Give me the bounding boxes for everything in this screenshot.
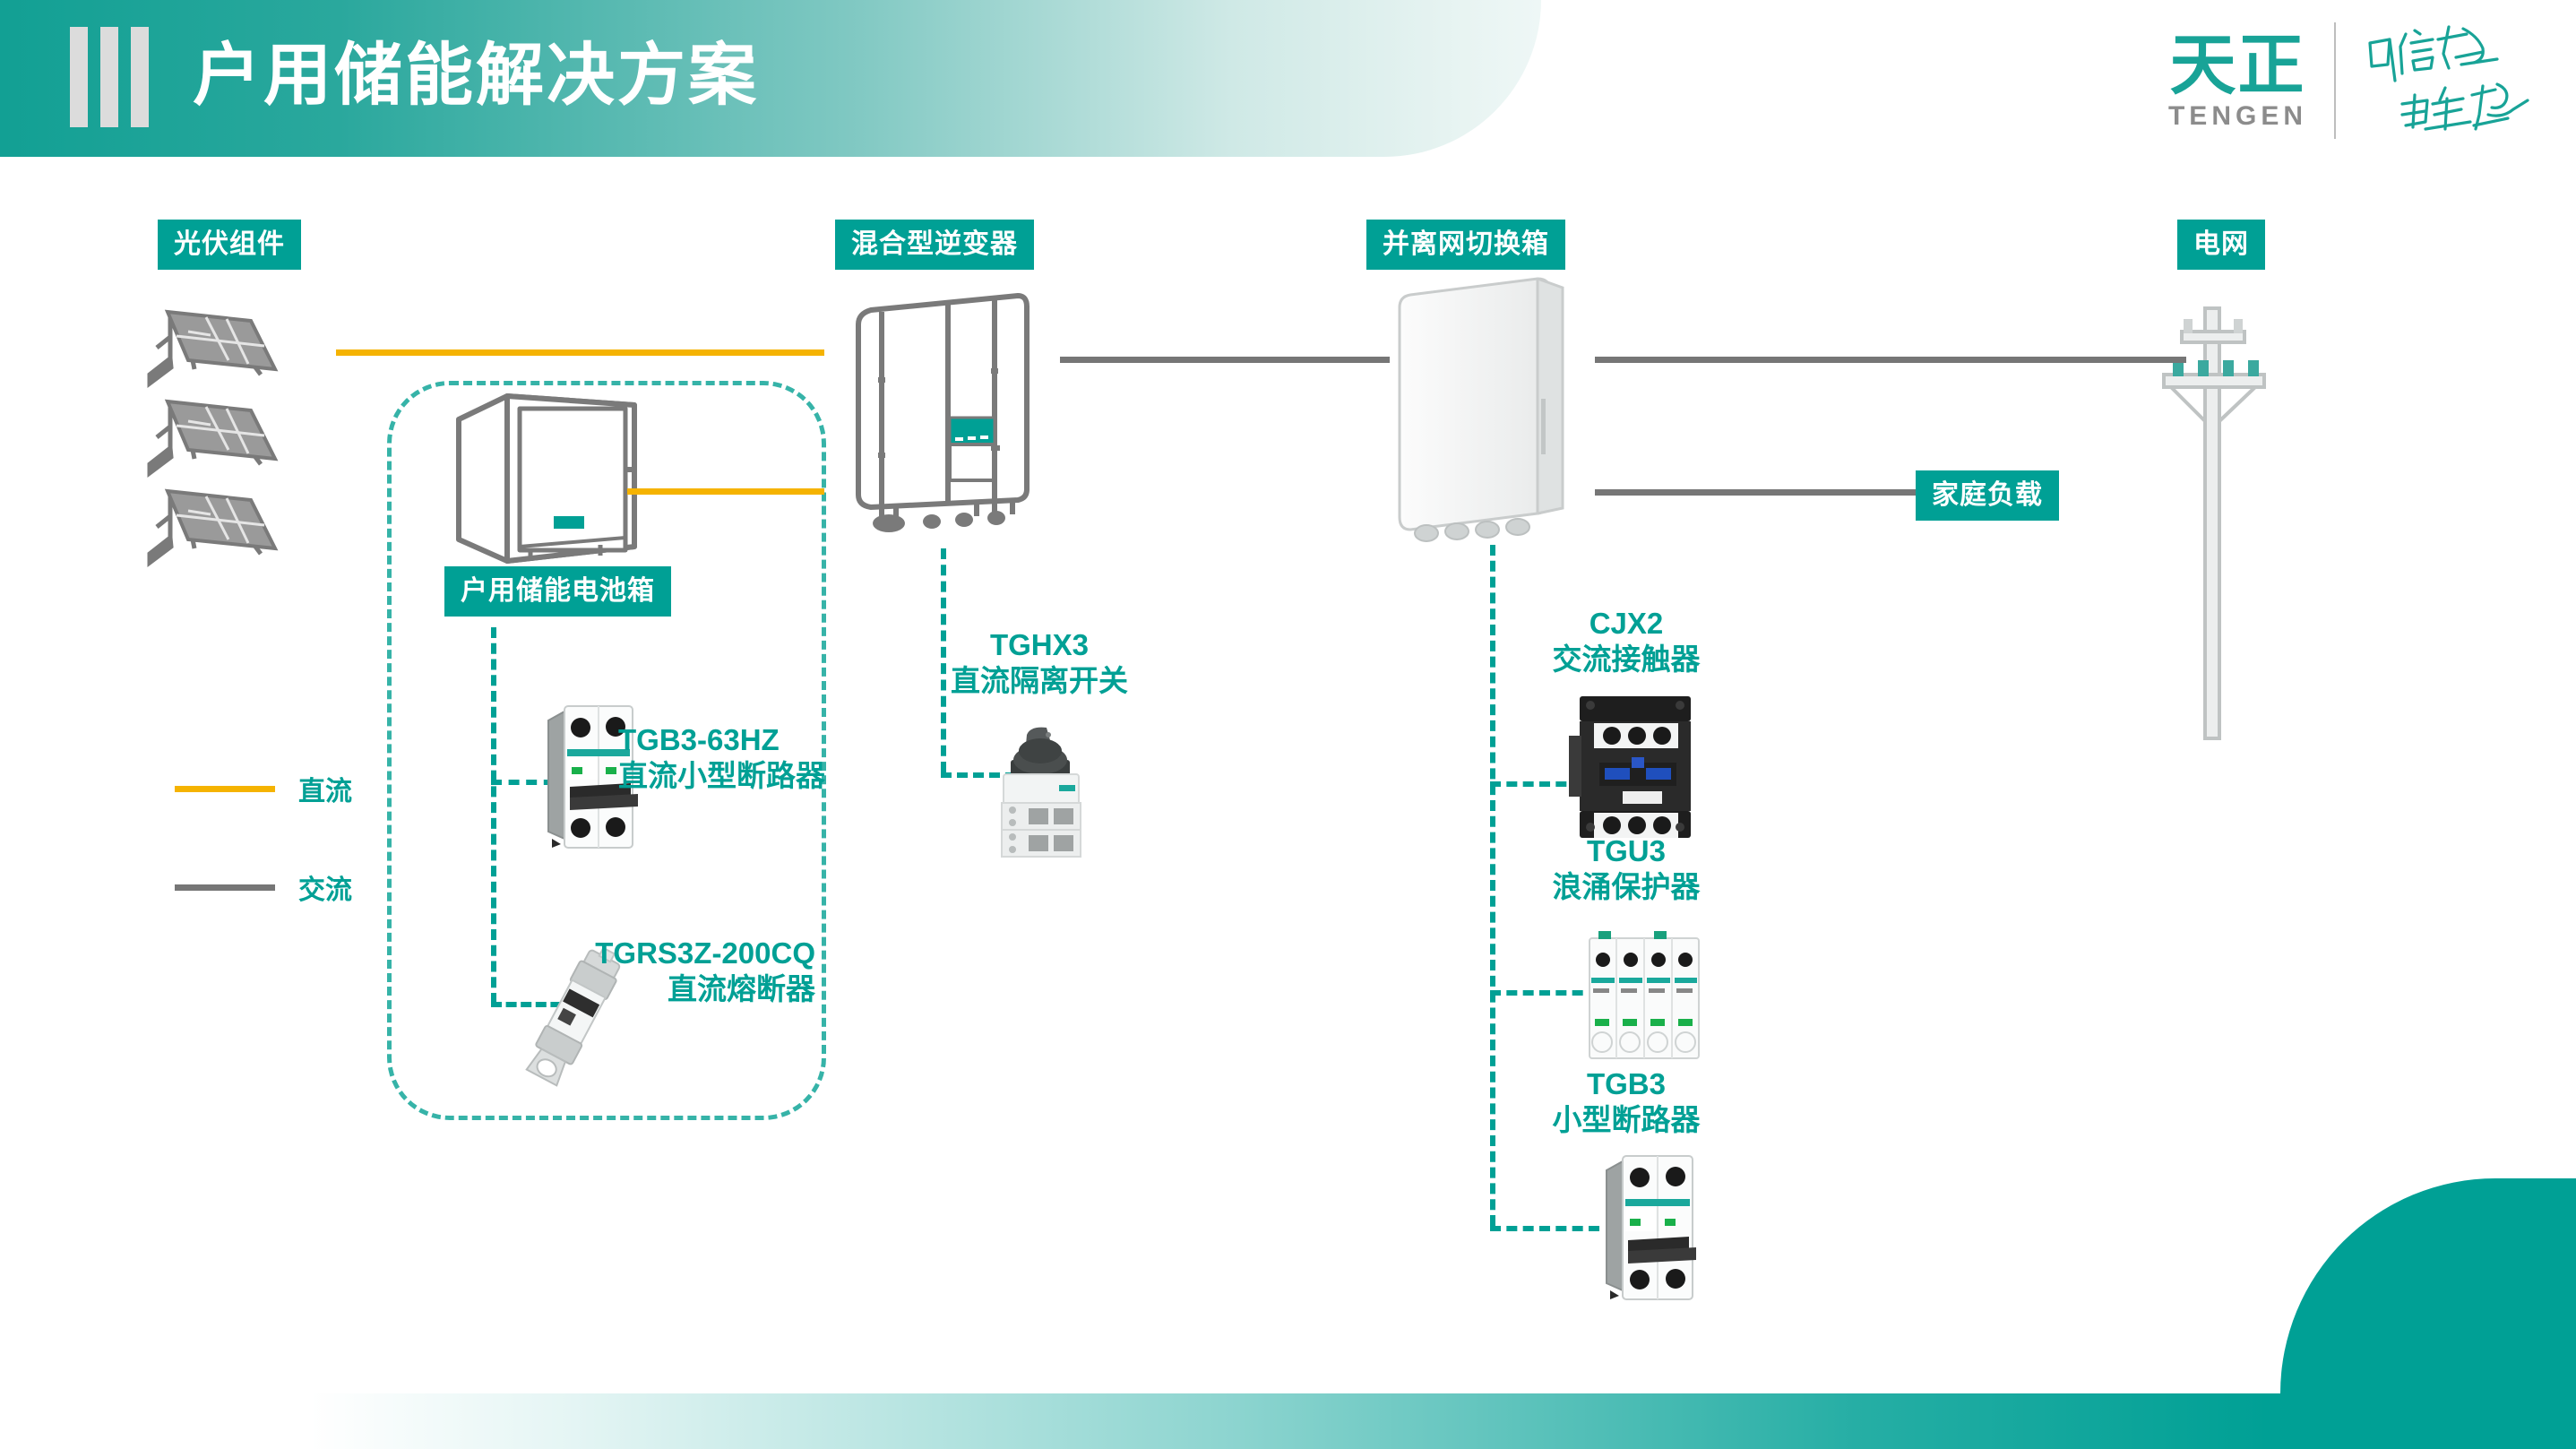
logo-divider [2334,22,2336,139]
caption-tgu3: TGU3 浪涌保护器 [1492,833,1761,906]
battery-cabinet-icon [448,385,645,582]
legend-label-dc: 直流 [298,769,352,808]
three-bars-icon [70,27,149,127]
brand-logo: 天正 TENGEN [2168,18,2542,143]
page-header: 户用储能解决方案 [0,0,1541,157]
solar-panel-icon [139,296,323,574]
caption-cjx2: CJX2 交流接触器 [1492,606,1761,678]
switch-cabinet-icon [1387,273,1575,542]
legend-label-ac: 交流 [298,867,352,907]
ac-line-swatch [175,884,275,891]
utility-pole-icon [2155,296,2271,744]
legend-item-dc: 直流 [175,762,352,815]
chip-switch-box: 并离网切换箱 [1366,220,1565,270]
bottom-corner-decoration [2280,1178,2576,1393]
caption-tgb3: TGB3 小型断路器 [1492,1066,1761,1139]
dc-line-pv-to-inverter [336,349,824,356]
chip-household-load: 家庭负载 [1916,470,2059,521]
legend-item-ac: 交流 [175,860,352,914]
dc-isolator-icon [977,717,1102,860]
caption-tgrs3z-200cq: TGRS3Z-200CQ 直流熔断器 [358,936,815,1008]
legend: 直流 交流 [175,762,352,914]
chip-pv-modules: 光伏组件 [158,220,301,270]
dc-line-battery-to-inverter [627,488,824,495]
ac-line-switchbox-to-load [1595,489,1916,496]
mcb-icon [1590,1147,1707,1308]
logo-name-en: TENGEN [2168,101,2307,132]
chip-hybrid-inverter: 混合型逆变器 [835,220,1034,270]
dc-line-swatch [175,786,275,792]
ac-contactor-icon [1564,686,1707,847]
caption-tghx3: TGHX3 直流隔离开关 [923,627,1156,700]
chip-grid: 电网 [2177,220,2265,270]
caption-tgb3-63hz: TGB3-63HZ 直流小型断路器 [618,722,825,795]
diagram-canvas: 户用储能解决方案 天正 TENGEN [0,0,2576,1449]
bottom-band-decoration [0,1393,2576,1449]
switchbox-branch-mcb [1490,1226,1599,1231]
page-title: 户用储能解决方案 [193,23,759,129]
spd-icon [1577,926,1711,1069]
ac-line-inverter-to-switchbox [1060,357,1390,363]
hybrid-inverter-icon [842,287,1039,529]
logo-mark: 天正 TENGEN [2168,30,2307,132]
logo-name-cn: 天正 [2169,30,2305,101]
ac-line-switchbox-to-grid [1595,357,2186,363]
slogan-handwriting-icon [2363,18,2542,143]
